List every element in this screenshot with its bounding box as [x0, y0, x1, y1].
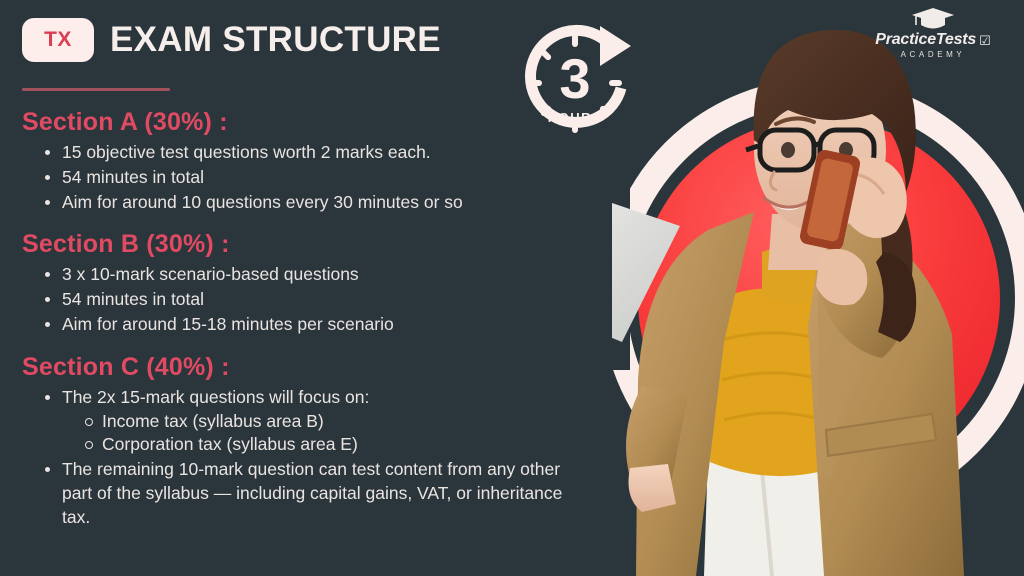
- list-item: 54 minutes in total: [44, 166, 582, 190]
- title-divider: [22, 88, 170, 91]
- check-mark-icon: ☑: [979, 34, 991, 47]
- logo-subtitle: ACADEMY: [901, 50, 966, 59]
- section-b: Section B (30%) : 3 x 10-mark scenario-b…: [22, 230, 582, 336]
- header: TX EXAM STRUCTURE: [22, 18, 441, 62]
- section-b-heading: Section B (30%) :: [22, 230, 582, 259]
- section-a-heading: Section A (30%) :: [22, 108, 582, 137]
- section-a-bullets: 15 objective test questions worth 2 mark…: [44, 141, 582, 214]
- list-item: 54 minutes in total: [44, 288, 582, 312]
- list-item: Aim for around 15-18 minutes per scenari…: [44, 313, 582, 337]
- section-b-bullets: 3 x 10-mark scenario-based questions 54 …: [44, 263, 582, 336]
- bullet-text: The 2x 15-mark questions will focus on:: [62, 386, 582, 410]
- tx-badge: TX: [22, 18, 94, 62]
- bullet-text: 15 objective test questions worth 2 mark…: [62, 141, 582, 165]
- list-item: The 2x 15-mark questions will focus on: …: [44, 386, 582, 457]
- section-c-sub-bullets: Income tax (syllabus area B) Corporation…: [84, 410, 582, 458]
- bullet-text: The remaining 10-mark question can test …: [62, 458, 582, 529]
- brand-logo: PracticeTests ☑ ACADEMY: [858, 6, 1008, 59]
- clock-hours-number: 3: [559, 47, 590, 110]
- list-item: 3 x 10-mark scenario-based questions: [44, 263, 582, 287]
- list-item: 15 objective test questions worth 2 mark…: [44, 141, 582, 165]
- presenter-photo: [612, 0, 1024, 576]
- logo-wordmark-row: PracticeTests ☑: [875, 31, 991, 49]
- bullet-text: 54 minutes in total: [62, 166, 582, 190]
- graduation-cap-icon: [911, 6, 955, 30]
- section-c: Section C (40%) : The 2x 15-mark questio…: [22, 353, 582, 530]
- sub-list-item: Income tax (syllabus area B): [84, 410, 582, 434]
- slide-root: TX EXAM STRUCTURE 3 HOURS: [0, 0, 1024, 576]
- section-c-heading: Section C (40%) :: [22, 353, 582, 382]
- section-c-bullets: The 2x 15-mark questions will focus on: …: [44, 386, 582, 530]
- sub-list-item: Corporation tax (syllabus area E): [84, 433, 582, 457]
- list-item: Aim for around 10 questions every 30 min…: [44, 191, 582, 215]
- content-body: Section A (30%) : 15 objective test ques…: [22, 108, 582, 542]
- list-item: The remaining 10-mark question can test …: [44, 458, 582, 529]
- logo-name: PracticeTests: [875, 31, 976, 49]
- bullet-text: 3 x 10-mark scenario-based questions: [62, 263, 582, 287]
- bullet-text: Aim for around 15-18 minutes per scenari…: [62, 313, 582, 337]
- bullet-text: 54 minutes in total: [62, 288, 582, 312]
- bullet-text: Aim for around 10 questions every 30 min…: [62, 191, 582, 215]
- section-a: Section A (30%) : 15 objective test ques…: [22, 108, 582, 214]
- page-title: EXAM STRUCTURE: [110, 20, 441, 60]
